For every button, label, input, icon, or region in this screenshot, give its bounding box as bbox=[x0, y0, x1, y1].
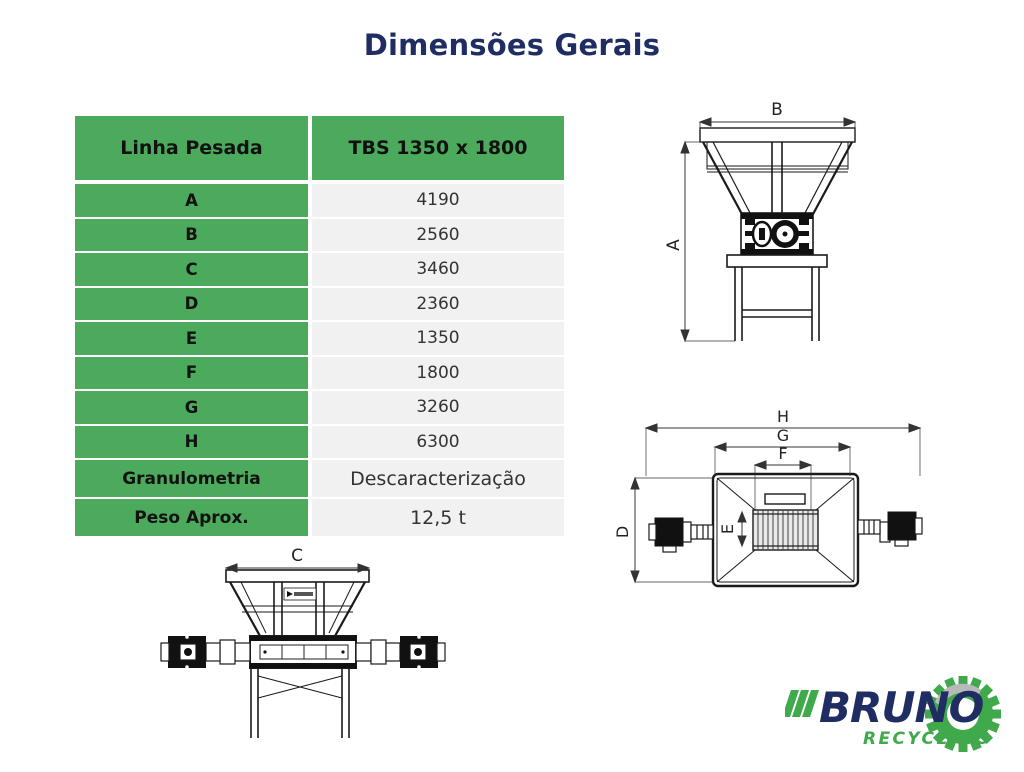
table-cell-value: 2360 bbox=[312, 288, 564, 321]
table-cell-label: Granulometria bbox=[75, 460, 308, 497]
dimension-label-f: F bbox=[778, 444, 787, 463]
table-cell-value: 3460 bbox=[312, 253, 564, 286]
dimension-label-g: G bbox=[777, 426, 789, 445]
table-header-value: TBS 1350 x 1800 bbox=[312, 116, 564, 180]
table-row: F1800 bbox=[75, 357, 564, 390]
table-cell-label: D bbox=[75, 288, 308, 321]
dimension-label-h: H bbox=[777, 408, 789, 426]
table-header-row: Linha Pesada TBS 1350 x 1800 bbox=[75, 116, 564, 180]
table-cell-value: 1800 bbox=[312, 357, 564, 390]
table-row: B2560 bbox=[75, 219, 564, 252]
table-cell-label: E bbox=[75, 322, 308, 355]
table-row: Peso Aprox.12,5 t bbox=[75, 499, 564, 536]
logo-primary-text: BRUNO bbox=[819, 683, 984, 732]
logo-secondary-text: RECYCLING bbox=[863, 729, 991, 749]
table-cell-label: F bbox=[75, 357, 308, 390]
front-elevation-drawing: B A bbox=[655, 98, 920, 364]
dimension-label-d: D bbox=[615, 526, 632, 538]
table-cell-value: Descaracterização bbox=[312, 460, 564, 497]
dimension-label-e: E bbox=[718, 524, 737, 534]
table-row: GranulometriaDescaracterização bbox=[75, 460, 564, 497]
table-cell-label: A bbox=[75, 184, 308, 217]
dimension-label-a: A bbox=[664, 239, 684, 251]
plan-view-drawing: H G F D E bbox=[615, 408, 950, 604]
table-cell-value: 1350 bbox=[312, 322, 564, 355]
table-row: D2360 bbox=[75, 288, 564, 321]
table-row: A4190 bbox=[75, 184, 564, 217]
table-row: G3260 bbox=[75, 391, 564, 424]
table-cell-value: 12,5 t bbox=[312, 499, 564, 536]
table-body: A4190B2560C3460D2360E1350F1800G3260H6300… bbox=[75, 184, 564, 536]
table-row: C3460 bbox=[75, 253, 564, 286]
table-row: E1350 bbox=[75, 322, 564, 355]
table-cell-label: C bbox=[75, 253, 308, 286]
table-cell-value: 4190 bbox=[312, 184, 564, 217]
page-title: Dimensões Gerais bbox=[0, 28, 1024, 62]
table-cell-label: H bbox=[75, 426, 308, 459]
table-cell-value: 2560 bbox=[312, 219, 564, 252]
table-header-label: Linha Pesada bbox=[75, 116, 308, 180]
table-cell-value: 3260 bbox=[312, 391, 564, 424]
dimension-label-b: B bbox=[771, 100, 783, 120]
dimension-label-c: C bbox=[291, 548, 303, 566]
brand-logo: BRUNO RECYCLING bbox=[785, 672, 1017, 762]
table-cell-value: 6300 bbox=[312, 426, 564, 459]
specification-table: Linha Pesada TBS 1350 x 1800 A4190B2560C… bbox=[75, 116, 564, 538]
side-elevation-drawing: C bbox=[138, 548, 480, 754]
table-cell-label: G bbox=[75, 391, 308, 424]
table-cell-label: Peso Aprox. bbox=[75, 499, 308, 536]
table-cell-label: B bbox=[75, 219, 308, 252]
table-row: H6300 bbox=[75, 426, 564, 459]
